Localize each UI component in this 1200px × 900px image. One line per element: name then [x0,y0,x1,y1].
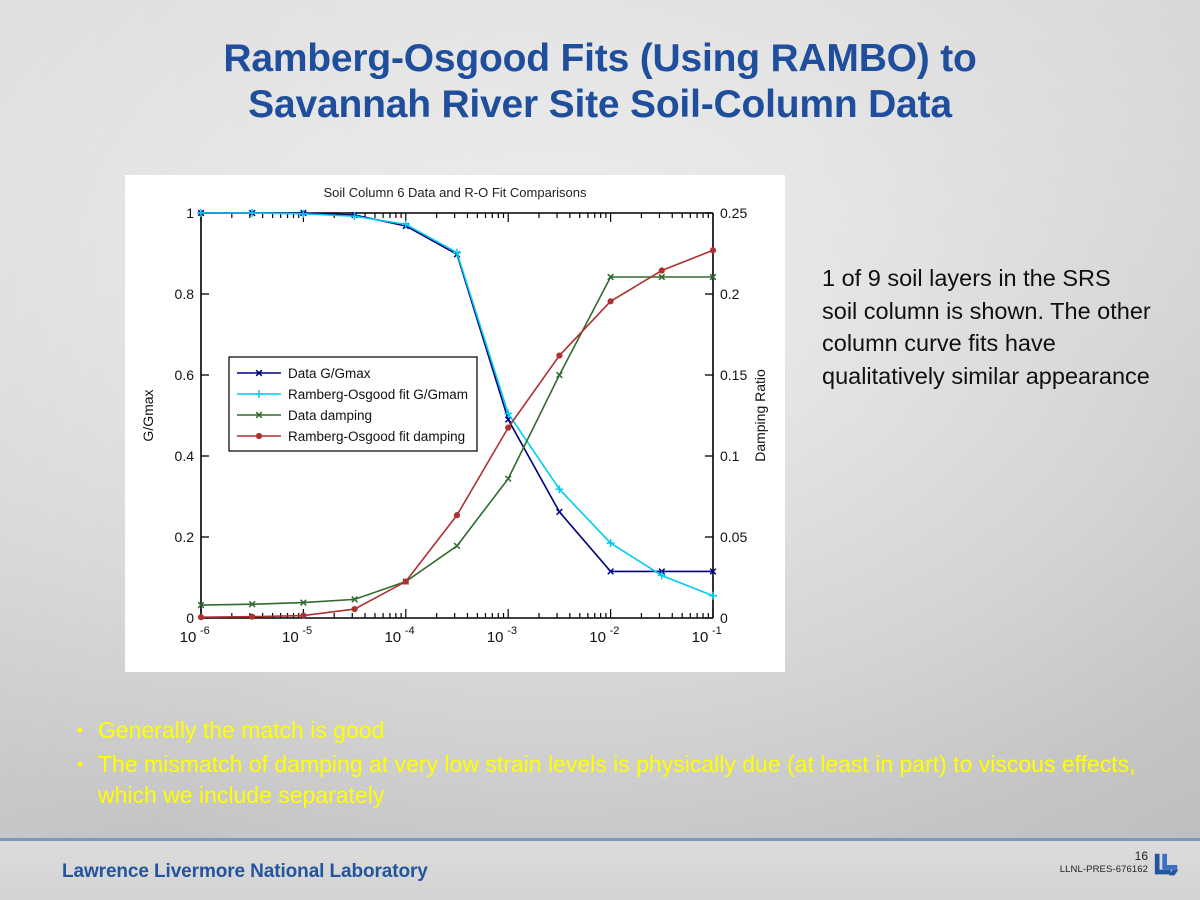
x-tick-label: 10-2 [589,625,619,646]
y-tick-label: 1 [186,205,194,221]
chart-panel: Soil Column 6 Data and R-O Fit Compariso… [125,175,785,672]
title-line-1: Ramberg-Osgood Fits (Using RAMBO) to [60,36,1140,82]
svg-text:-6: -6 [200,625,210,637]
y2-tick-label: 0.1 [720,448,740,464]
svg-text:-5: -5 [302,625,312,637]
y-tick-label: 0.2 [175,529,195,545]
chart-legend: Data G/GmaxRamberg-Osgood fit G/GmamData… [229,357,477,451]
y2-tick-label: 0.25 [720,205,747,221]
footer-meta: 16 LLNL-PRES-676162 [1060,850,1148,876]
y-tick-label: 0.6 [175,367,195,383]
svg-text:-4: -4 [405,625,415,637]
svg-text:-2: -2 [610,625,620,637]
svg-text:10: 10 [589,629,606,646]
list-item: • The mismatch of damping at very low st… [62,749,1152,811]
slide-background: Ramberg-Osgood Fits (Using RAMBO) to Sav… [0,0,1200,900]
y-tick-label: 0.8 [175,286,195,302]
page-number: 16 [1060,850,1148,863]
title-line-2: Savannah River Site Soil-Column Data [60,82,1140,128]
x-tick-label: 10-3 [487,625,517,646]
llnl-logo-icon [1152,850,1182,880]
chart-svg-container: 10-610-510-410-310-210-100.20.40.60.8100… [125,175,785,672]
y2-axis-title: Damping Ratio [752,369,768,462]
svg-text:-1: -1 [712,625,722,637]
footer-organization: Lawrence Livermore National Laboratory [62,861,428,883]
legend-label: Data G/Gmax [288,366,371,381]
y2-tick-label: 0 [720,610,728,626]
svg-text:-3: -3 [507,625,517,637]
footer-right-group: 16 LLNL-PRES-676162 [1060,850,1182,880]
page-title: Ramberg-Osgood Fits (Using RAMBO) to Sav… [60,36,1140,128]
svg-text:10: 10 [487,629,504,646]
list-item: • Generally the match is good [62,715,1152,746]
svg-text:10: 10 [384,629,401,646]
svg-text:10: 10 [180,629,197,646]
legend-label: Data damping [288,408,372,423]
svg-text:10: 10 [282,629,299,646]
x-tick-label: 10-4 [384,625,414,646]
y-axis-title: G/Gmax [140,389,156,441]
footer-divider [0,838,1200,841]
legend-label: Ramberg-Osgood fit damping [288,429,465,444]
y2-tick-label: 0.05 [720,529,747,545]
bullet-text: The mismatch of damping at very low stra… [98,749,1152,811]
description-paragraph: 1 of 9 soil layers in the SRS soil colum… [822,262,1152,392]
bullet-list: • Generally the match is good • The mism… [62,715,1152,814]
x-tick-label: 10-5 [282,625,312,646]
x-tick-label: 10-1 [692,625,722,646]
y-tick-label: 0.4 [175,448,195,464]
legend-label: Ramberg-Osgood fit G/Gmam [288,387,468,402]
y2-tick-label: 0.2 [720,286,740,302]
bullet-dot-icon: • [62,715,98,746]
svg-text:10: 10 [692,629,709,646]
chart-plot: 10-610-510-410-310-210-100.20.40.60.8100… [125,175,785,672]
report-id: LLNL-PRES-676162 [1060,863,1148,876]
y2-tick-label: 0.15 [720,367,747,383]
bullet-text: Generally the match is good [98,715,1152,746]
x-tick-label: 10-6 [180,625,210,646]
bullet-dot-icon: • [62,749,98,780]
y-tick-label: 0 [186,610,194,626]
